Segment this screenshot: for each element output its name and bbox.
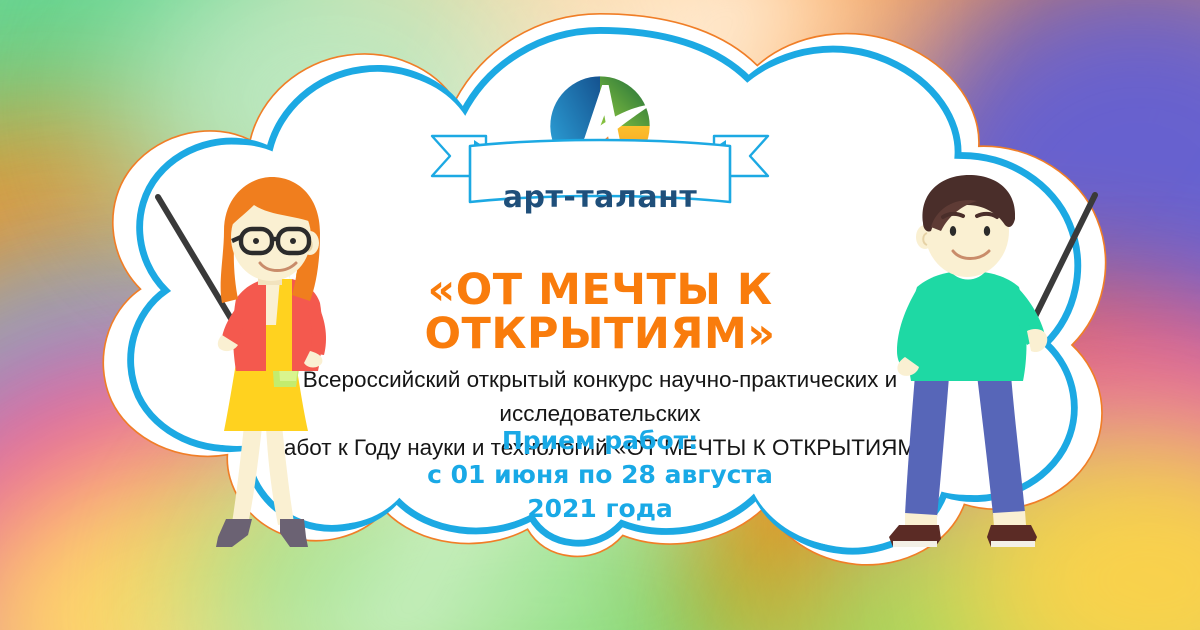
submission-dates: Прием работ: с 01 июня по 28 августа 202…	[320, 424, 880, 526]
dates-label: Прием работ:	[320, 424, 880, 458]
banner-canvas: арт-талант «ОТ МЕЧТЫ К ОТКРЫТИЯМ» Всерос…	[0, 0, 1200, 630]
dates-range: с 01 июня по 28 августа	[320, 458, 880, 492]
dates-year: 2021 года	[320, 492, 880, 526]
character-student-boy	[845, 175, 1115, 560]
page-title-line-1: «ОТ МЕЧТЫ К	[427, 265, 772, 315]
character-teacher-woman	[140, 175, 400, 560]
brand-logo-block: арт-талант	[420, 72, 780, 180]
brand-name: арт-талант	[426, 180, 774, 215]
brand-ribbon: арт-талант	[426, 124, 774, 216]
